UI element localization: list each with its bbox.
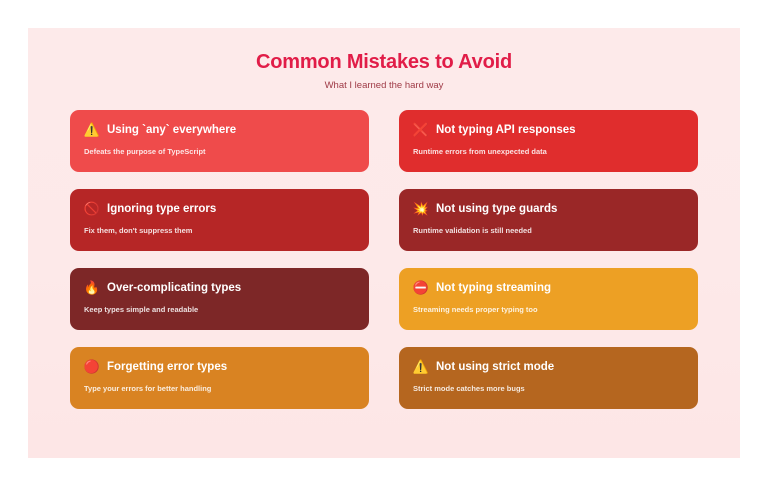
- mistake-card-title: Not using type guards: [436, 203, 557, 216]
- page-subtitle: What I learned the hard way: [70, 80, 698, 91]
- mistake-card-header: 🔴Forgetting error types: [84, 358, 355, 375]
- fire-icon: 🔥: [84, 280, 100, 296]
- mistake-card-description: Fix them, don't suppress them: [84, 226, 355, 235]
- mistake-card-description: Defeats the purpose of TypeScript: [84, 147, 355, 156]
- mistake-cards-grid: ⚠️Using `any` everywhereDefeats the purp…: [70, 110, 698, 409]
- mistake-card-description: Strict mode catches more bugs: [413, 384, 684, 393]
- mistake-card-description: Streaming needs proper typing too: [413, 305, 684, 314]
- mistake-card-header: ⚠️Using `any` everywhere: [84, 121, 355, 138]
- mistake-card-title: Ignoring type errors: [107, 203, 216, 216]
- mistake-card-description: Runtime errors from unexpected data: [413, 147, 684, 156]
- mistake-card-title: Forgetting error types: [107, 361, 227, 374]
- prohibited-sign-icon: 🚫: [84, 201, 100, 217]
- mistake-card-header: 💥Not using type guards: [413, 200, 684, 217]
- mistake-card-title: Over-complicating types: [107, 282, 241, 295]
- mistake-card[interactable]: ❌Not typing API responsesRuntime errors …: [399, 110, 698, 172]
- warning-triangle-icon: ⚠️: [84, 122, 100, 138]
- mistake-card[interactable]: ⚠️Not using strict modeStrict mode catch…: [399, 347, 698, 409]
- mistake-card[interactable]: 🚫Ignoring type errorsFix them, don't sup…: [70, 189, 369, 251]
- slide-panel: Common Mistakes to Avoid What I learned …: [28, 28, 740, 458]
- collision-sparkle-icon: 💥: [413, 201, 429, 217]
- mistake-card-description: Runtime validation is still needed: [413, 226, 684, 235]
- mistake-card[interactable]: 🔥Over-complicating typesKeep types simpl…: [70, 268, 369, 330]
- mistake-card-description: Type your errors for better handling: [84, 384, 355, 393]
- mistake-card-header: ❌Not typing API responses: [413, 121, 684, 138]
- mistake-card-title: Not typing API responses: [436, 124, 576, 137]
- mistake-card[interactable]: ⛔Not typing streamingStreaming needs pro…: [399, 268, 698, 330]
- mistake-card-title: Using `any` everywhere: [107, 124, 236, 137]
- mistake-card[interactable]: 🔴Forgetting error typesType your errors …: [70, 347, 369, 409]
- mistake-card[interactable]: ⚠️Using `any` everywhereDefeats the purp…: [70, 110, 369, 172]
- slide-header: Common Mistakes to Avoid What I learned …: [70, 50, 698, 91]
- mistake-card-header: 🚫Ignoring type errors: [84, 200, 355, 217]
- mistake-card-title: Not using strict mode: [436, 361, 554, 374]
- mistake-card-header: 🔥Over-complicating types: [84, 279, 355, 296]
- page-title: Common Mistakes to Avoid: [70, 50, 698, 74]
- mistake-card-header: ⛔Not typing streaming: [413, 279, 684, 296]
- no-entry-icon: ⛔: [413, 280, 429, 296]
- mistake-card-description: Keep types simple and readable: [84, 305, 355, 314]
- red-circle-icon: 🔴: [84, 359, 100, 375]
- mistake-card-title: Not typing streaming: [436, 282, 551, 295]
- mistake-card-header: ⚠️Not using strict mode: [413, 358, 684, 375]
- mistake-card[interactable]: 💥Not using type guardsRuntime validation…: [399, 189, 698, 251]
- warning-triangle-icon: ⚠️: [413, 359, 429, 375]
- cross-mark-icon: ❌: [413, 122, 429, 138]
